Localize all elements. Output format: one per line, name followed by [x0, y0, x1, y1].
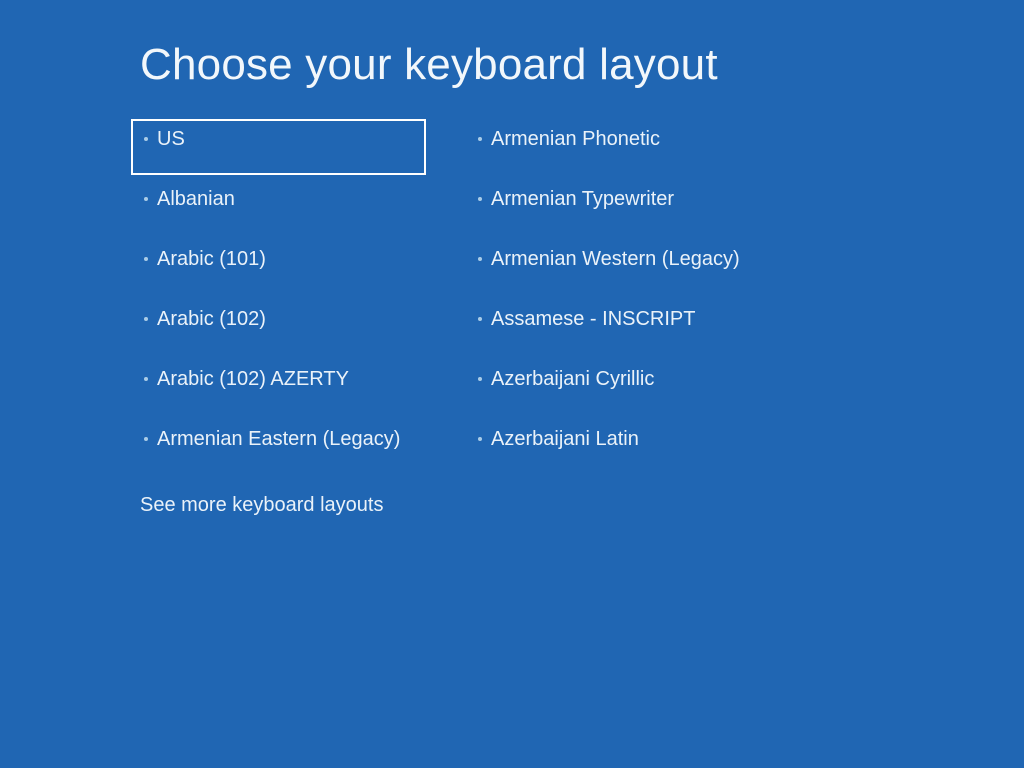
bullet-dot-icon — [144, 377, 148, 381]
bullet-dot-icon — [478, 317, 482, 321]
bullet-dot-icon — [478, 257, 482, 261]
keyboard-layout-item-armenian-phonetic[interactable]: Armenian Phonetic — [465, 119, 805, 179]
keyboard-layout-label: Arabic (101) — [157, 239, 471, 272]
keyboard-layout-column-1: US Albanian Arabic (101) Arabic (102) Ar… — [131, 119, 471, 479]
keyboard-layout-item-assamese-inscript[interactable]: Assamese - INSCRIPT — [465, 299, 805, 359]
keyboard-layout-item-armenian-typewriter[interactable]: Armenian Typewriter — [465, 179, 805, 239]
keyboard-layout-label: US — [157, 121, 424, 152]
keyboard-layout-label: Azerbaijani Latin — [491, 419, 805, 452]
see-more-keyboard-layouts-link[interactable]: See more keyboard layouts — [140, 492, 383, 518]
keyboard-layout-label: Assamese - INSCRIPT — [491, 299, 805, 332]
bullet-dot-icon — [144, 197, 148, 201]
keyboard-layout-item-azerbaijani-cyrillic[interactable]: Azerbaijani Cyrillic — [465, 359, 805, 419]
keyboard-layout-column-2: Armenian Phonetic Armenian Typewriter Ar… — [465, 119, 805, 479]
bullet-dot-icon — [478, 137, 482, 141]
keyboard-layout-label: Arabic (102) AZERTY — [157, 359, 471, 392]
keyboard-layout-label: Armenian Phonetic — [491, 119, 805, 152]
bullet-dot-icon — [144, 257, 148, 261]
keyboard-layout-label: Arabic (102) — [157, 299, 471, 332]
keyboard-layout-item-arabic-101[interactable]: Arabic (101) — [131, 239, 471, 299]
bullet-dot-icon — [478, 377, 482, 381]
keyboard-layout-label: Azerbaijani Cyrillic — [491, 359, 805, 392]
keyboard-layout-label: Armenian Typewriter — [491, 179, 805, 212]
bullet-dot-icon — [478, 437, 482, 441]
bullet-dot-icon — [478, 197, 482, 201]
keyboard-layout-screen: Choose your keyboard layout US Albanian … — [0, 0, 1024, 768]
keyboard-layout-item-albanian[interactable]: Albanian — [131, 179, 471, 239]
keyboard-layout-item-arabic-102-azerty[interactable]: Arabic (102) AZERTY — [131, 359, 471, 419]
page-title: Choose your keyboard layout — [140, 36, 718, 94]
keyboard-layout-item-us[interactable]: US — [131, 119, 426, 175]
keyboard-layout-item-azerbaijani-latin[interactable]: Azerbaijani Latin — [465, 419, 805, 479]
keyboard-layout-label: Armenian Western (Legacy) — [491, 239, 805, 272]
keyboard-layout-item-armenian-eastern-legacy[interactable]: Armenian Eastern (Legacy) — [131, 419, 471, 479]
keyboard-layout-label: Armenian Eastern (Legacy) — [157, 419, 471, 452]
bullet-dot-icon — [144, 437, 148, 441]
bullet-dot-icon — [144, 317, 148, 321]
keyboard-layout-item-armenian-western-legacy[interactable]: Armenian Western (Legacy) — [465, 239, 805, 299]
keyboard-layout-label: Albanian — [157, 179, 471, 212]
bullet-dot-icon — [144, 137, 148, 141]
keyboard-layout-item-arabic-102[interactable]: Arabic (102) — [131, 299, 471, 359]
